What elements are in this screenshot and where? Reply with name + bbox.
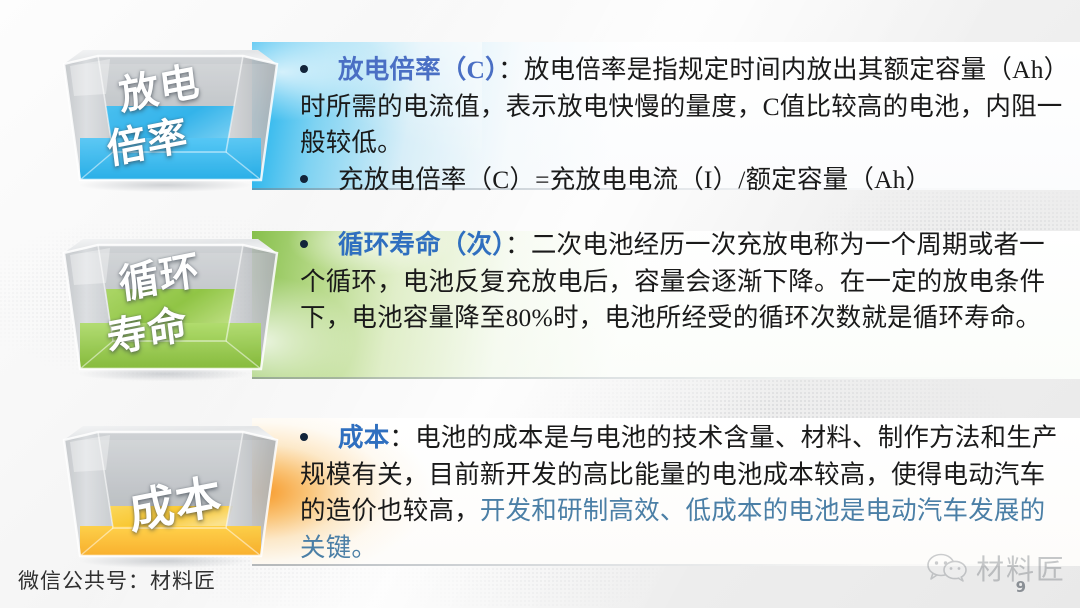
paragraph-heading: 成本	[338, 423, 389, 452]
wechat-icon	[926, 553, 968, 583]
bullet-icon	[300, 175, 308, 183]
bullet-icon	[300, 240, 308, 248]
footer-wechat-account: 微信公共号：材料匠	[18, 565, 216, 595]
bullet-icon	[300, 433, 308, 441]
paragraph-heading: 循环寿命（次）	[338, 230, 505, 259]
slide-canvas: 放电 倍率 放电倍率（C）：放电倍率是指规定时间内放出其额定容量（Ah）时所需的…	[0, 0, 1080, 608]
glass-box-cost: 成本	[58, 410, 283, 575]
section-cycle-life: 循环 寿命 循环寿命（次）：二次电池经历一次充放电称为一个周期或者一个循环，电池…	[0, 205, 1080, 395]
section-cost: 成本 成本：电池的成本是与电池的技术含量、材料、制作方法和生产规模有关，目前新开…	[0, 392, 1080, 582]
paragraph-body: 充放电倍率（C）=充放电电流（I）/额定容量（Ah）	[338, 165, 931, 194]
section-discharge-rate: 放电 倍率 放电倍率（C）：放电倍率是指规定时间内放出其额定容量（Ah）时所需的…	[0, 16, 1080, 206]
paragraph-2: 充放电倍率（C）=充放电电流（I）/额定容量（Ah）	[300, 162, 1070, 199]
text-block-cost: 成本：电池的成本是与电池的技术含量、材料、制作方法和生产规模有关，目前新开发的高…	[300, 420, 1070, 566]
glass-box-discharge-rate: 放电 倍率	[58, 34, 283, 199]
watermark-logo: 材料匠	[926, 548, 1066, 588]
paragraph-1: 放电倍率（C）：放电倍率是指规定时间内放出其额定容量（Ah）时所需的电流值，表示…	[300, 52, 1070, 162]
paragraph-1: 成本：电池的成本是与电池的技术含量、材料、制作方法和生产规模有关，目前新开发的高…	[300, 420, 1070, 566]
paragraph-heading: 放电倍率（C）	[338, 55, 498, 84]
glass-box-cycle-life: 循环 寿命	[58, 223, 283, 388]
page-number: 9	[1016, 578, 1026, 596]
bullet-icon	[300, 65, 308, 73]
text-block-discharge-rate: 放电倍率（C）：放电倍率是指规定时间内放出其额定容量（Ah）时所需的电流值，表示…	[300, 52, 1070, 198]
text-block-cycle-life: 循环寿命（次）：二次电池经历一次充放电称为一个周期或者一个循环，电池反复充放电后…	[300, 227, 1070, 337]
paragraph-1: 循环寿命（次）：二次电池经历一次充放电称为一个周期或者一个循环，电池反复充放电后…	[300, 227, 1070, 337]
banner-underline	[252, 377, 1080, 379]
